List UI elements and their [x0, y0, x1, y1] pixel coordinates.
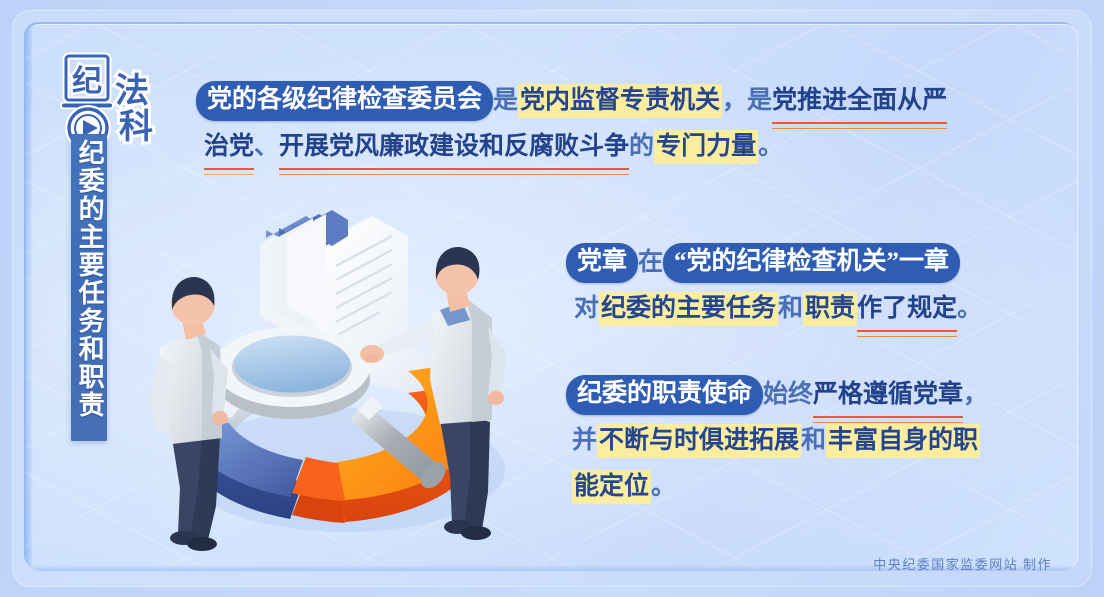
underline-stipulated: 作了规定: [857, 286, 957, 332]
text-plain: 和: [778, 286, 803, 332]
paragraph-1-line-2: 治党 、 开展党风廉政建设和反腐败斗争 的 专门力量 。: [196, 124, 1076, 170]
text-plain: 是: [493, 78, 518, 124]
svg-text:纪: 纪: [72, 65, 102, 98]
text-plain: 的: [629, 124, 654, 170]
text-period: 。: [651, 464, 676, 510]
highlight-enrich-functions: 丰富自身的职: [826, 424, 980, 458]
text-period: 。: [758, 124, 783, 170]
highlight-specialized-force: 专门力量: [654, 130, 758, 164]
text-plain: 对: [574, 286, 599, 332]
text-plain: 和: [801, 418, 826, 464]
paragraph-3-line-3: 能定位 。: [566, 464, 1026, 510]
paragraph-3-line-1: 纪委的职责使命 始终 严格遵循党章 ，: [566, 372, 1026, 418]
magnifier-lens: [234, 336, 350, 393]
underline-clean-governance: 开展党风廉政建设和反腐败斗争: [279, 124, 629, 170]
highlight-internal-supervision: 党内监督专责机关: [518, 84, 722, 118]
paragraph-1: 党的各级纪律检查委员会 是 党内监督专责机关 ，是 党推进全面从严 治党 、 开…: [196, 78, 1076, 170]
highlight-functional-position: 能定位: [572, 470, 651, 504]
logo-outline-glow: 纪: [66, 56, 108, 100]
paragraph-3: 纪委的职责使命 始终 严格遵循党章 ， 并 不断与时俱进拓展 和 丰富自身的职 …: [566, 372, 1026, 510]
vertical-title-text: 纪委的主要任务和职责: [74, 139, 104, 419]
paragraph-3-line-2: 并 不断与时俱进拓展 和 丰富自身的职: [566, 418, 1026, 464]
underline-follow-constitution: 严格遵循党章: [813, 372, 963, 418]
paragraph-2-line-1: 党章 在 “党的纪律检查机关”一章: [566, 240, 1026, 286]
badge-party-discipline-committee: 党的各级纪律检查委员会: [196, 81, 493, 121]
text-comma: ，: [963, 372, 988, 418]
highlight-keep-pace-expand: 不断与时俱进拓展: [597, 424, 801, 458]
svg-text:法: 法: [115, 72, 149, 110]
underline-govern-party: 治党: [204, 124, 254, 170]
illustration-isometric-chart: [140, 170, 570, 560]
highlight-duties: 职责: [803, 292, 857, 326]
person-left: [150, 277, 228, 551]
vertical-title-bar: 纪委的主要任务和职责: [71, 134, 107, 441]
paragraph-2-line-2: 对 纪委的主要任务 和 职责 作了规定 。: [566, 286, 1026, 332]
highlight-main-tasks: 纪委的主要任务: [599, 292, 778, 326]
text-plain: ，是: [722, 78, 772, 124]
text-plain: 在: [638, 240, 663, 286]
infographic-canvas: 纪 法 科 纪委的主要任务和职责: [0, 0, 1104, 597]
text-plain: 并: [572, 418, 597, 464]
badge-duty-mission: 纪委的职责使命: [566, 375, 763, 415]
paragraph-1-line-1: 党的各级纪律检查委员会 是 党内监督专责机关 ，是 党推进全面从严: [196, 78, 1076, 124]
badge-party-constitution: 党章: [566, 243, 638, 283]
text-period: 。: [957, 286, 982, 332]
paragraph-2: 党章 在 “党的纪律检查机关”一章 对 纪委的主要任务 和 职责 作了规定 。: [566, 240, 1026, 332]
text-plain: 始终: [763, 372, 813, 418]
badge-discipline-inspection-chapter: “党的纪律检查机关”一章: [663, 243, 960, 283]
svg-text:科: 科: [119, 108, 153, 146]
underline-strict-governance: 党推进全面从严: [772, 78, 947, 124]
footer-credit: 中央纪委国家监委网站 制作: [873, 554, 1052, 573]
text-plain: 、: [254, 124, 279, 170]
